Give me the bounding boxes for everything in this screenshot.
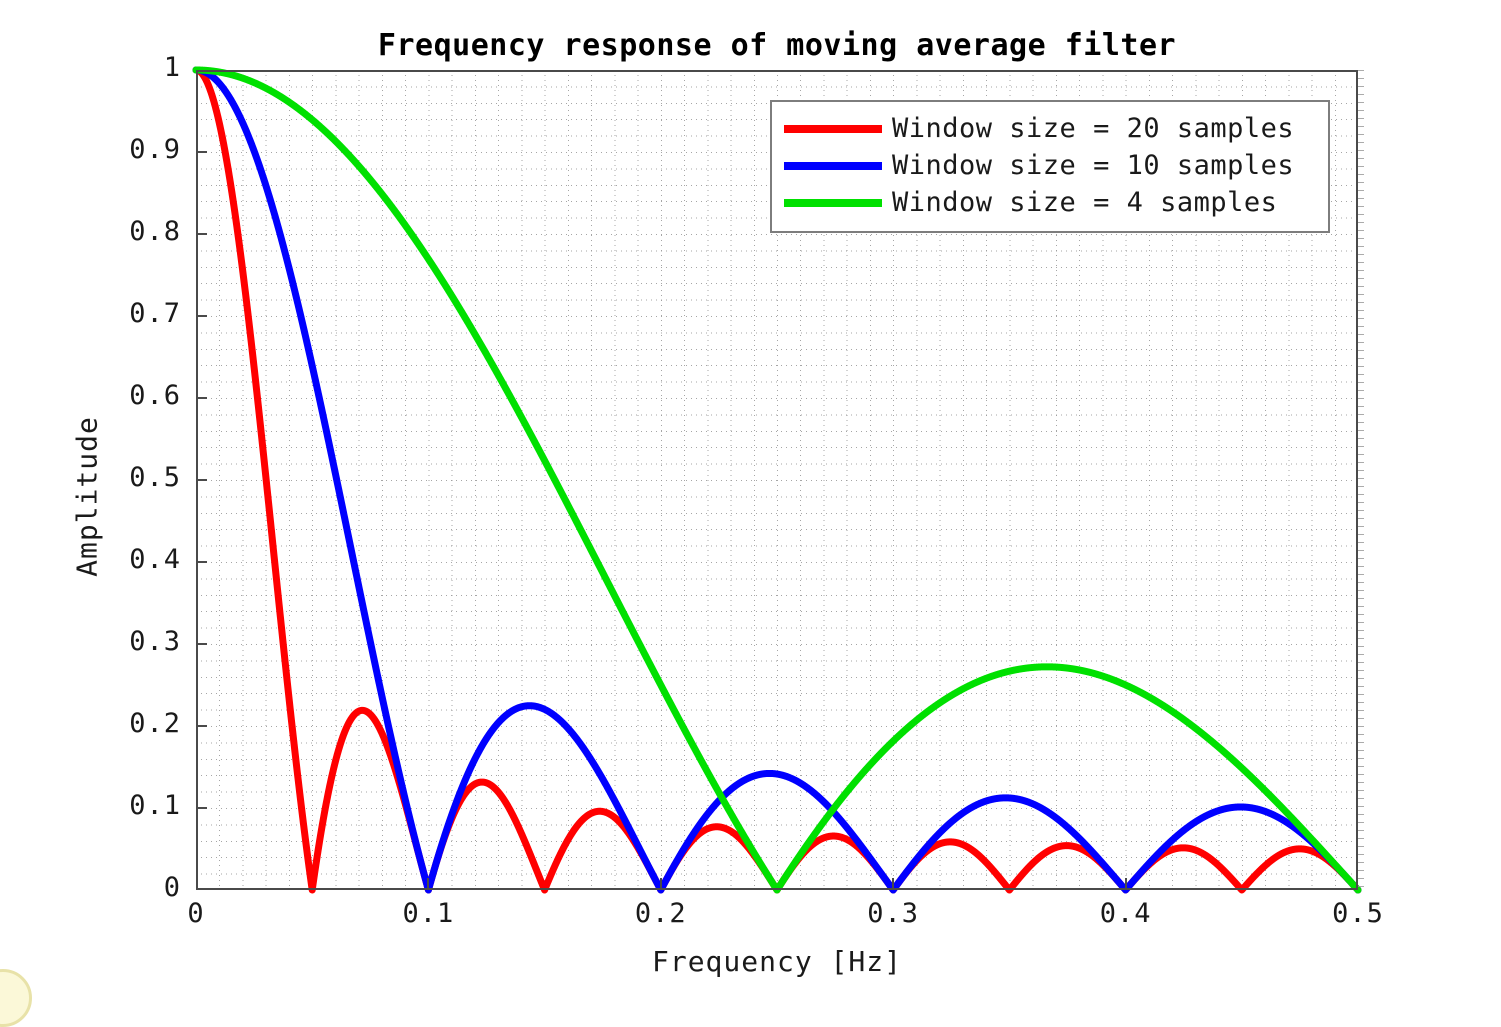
chart-figure: Frequency response of moving average fil… [0,0,1501,1001]
x-tick-mark [1125,878,1127,889]
y-tick-mark [196,807,207,809]
legend-swatch-icon [784,199,882,207]
y-tick-label: 0 [164,872,181,903]
corner-decoration [0,969,32,1027]
legend-item-label: Window size = 4 samples [892,187,1277,218]
x-axis-label: Frequency [Hz] [196,945,1358,978]
y-tick-label: 0.6 [129,380,181,411]
y-tick-label: 0.8 [129,216,181,247]
y-tick-mark [196,151,207,153]
grid-overflow [1358,70,1364,890]
y-tick-mark [196,397,207,399]
y-tick-label: 0.1 [129,790,181,821]
legend[interactable]: Window size = 20 samples Window size = 1… [770,100,1330,233]
x-tick-mark [892,878,894,889]
legend-item[interactable]: Window size = 20 samples [784,110,1318,147]
y-tick-mark [196,233,207,235]
page-title: Frequency response of moving average fil… [196,28,1358,63]
y-tick-mark [196,643,207,645]
y-tick-label: 0.5 [129,462,181,493]
y-tick-label: 0.3 [129,626,181,657]
y-axis-label: Amplitude [71,397,104,597]
x-tick-mark [427,878,429,889]
y-tick-label: 0.4 [129,544,181,575]
y-tick-label: 1 [164,52,181,83]
y-tick-label: 0.9 [129,134,181,165]
x-tick-label: 0.1 [403,898,455,929]
y-tick-mark [196,725,207,727]
x-tick-label: 0.4 [1100,898,1152,929]
legend-swatch-icon [784,125,882,133]
x-tick-label: 0.5 [1332,898,1384,929]
legend-item-label: Window size = 20 samples [892,113,1294,144]
x-tick-mark [660,878,662,889]
x-tick-label: 0.2 [635,898,687,929]
legend-item[interactable]: Window size = 10 samples [784,147,1318,184]
x-tick-label: 0.3 [867,898,919,929]
y-tick-label: 0.2 [129,708,181,739]
y-tick-mark [196,479,207,481]
legend-item[interactable]: Window size = 4 samples [784,184,1318,221]
y-tick-label: 0.7 [129,298,181,329]
x-tick-label: 0 [187,898,204,929]
y-tick-mark [196,561,207,563]
y-tick-mark [196,315,207,317]
legend-swatch-icon [784,162,882,170]
legend-item-label: Window size = 10 samples [892,150,1294,181]
